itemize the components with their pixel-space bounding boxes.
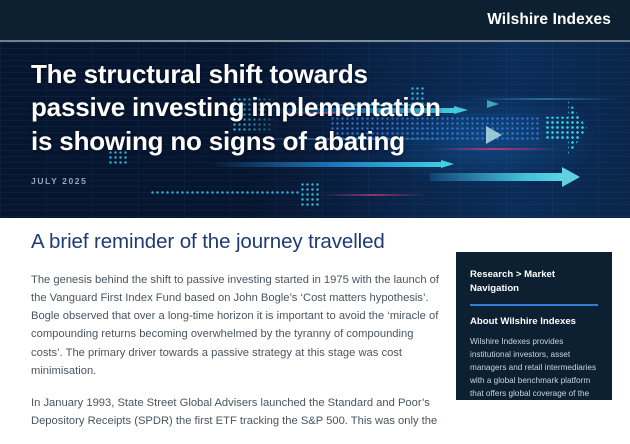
sidebar-divider [470,304,598,306]
hero-publication-date: JULY 2025 [31,176,87,186]
hero-dot-row-lower [150,190,300,195]
hero-arrow-cyan-bottom [430,172,580,181]
page-header: Wilshire Indexes [0,0,630,40]
article-paragraph-1: The genesis behind the shift to passive … [31,271,443,380]
article-content: A brief reminder of the journey travelle… [31,230,443,444]
sidebar-panel: Research > Market Navigation About Wilsh… [456,252,612,400]
sidebar-about-text: Wilshire Indexes provides institutional … [470,335,598,400]
hero-headline: The structural shift towards passive inv… [31,58,451,158]
hero-arrow-cyan-lower [215,160,455,169]
hero-banner: The structural shift towards passive inv… [0,42,630,218]
section-title: A brief reminder of the journey travelle… [31,230,443,254]
hero-dot-cluster-small [300,182,320,206]
hero-streak-magenta-3 [318,194,428,196]
breadcrumb[interactable]: Research > Market Navigation [470,268,598,295]
brand-title: Wilshire Indexes [487,11,611,29]
article-paragraph-2: In January 1993, State Street Global Adv… [31,394,443,430]
sidebar-heading-about: About Wilshire Indexes [470,316,598,327]
